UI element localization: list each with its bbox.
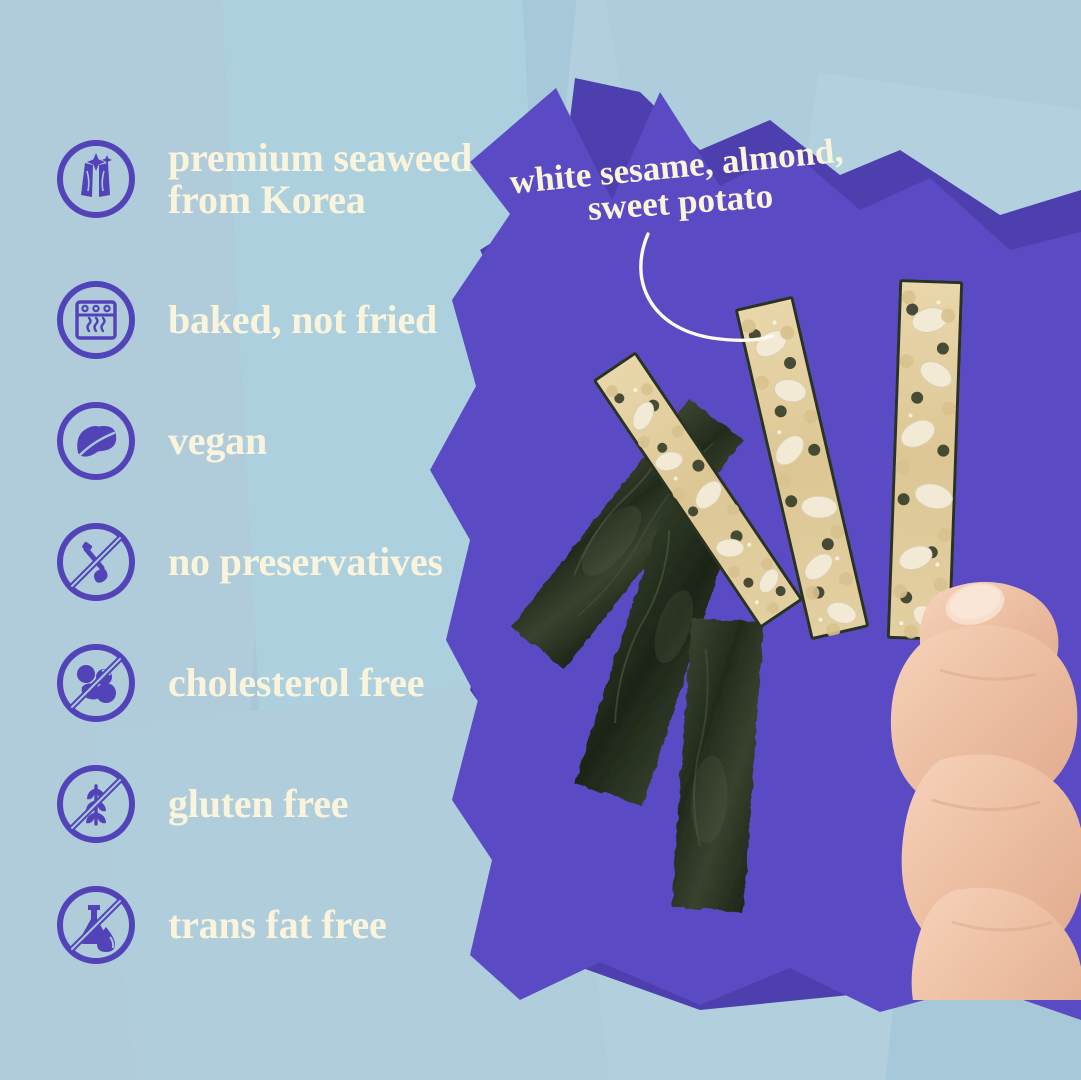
feature-item-baked-not-fried[interactable]: baked, not fried [52, 274, 437, 366]
feature-label: vegan [168, 420, 267, 462]
vegan-icon [52, 397, 140, 485]
feature-label: gluten free [168, 783, 348, 825]
feature-item-gluten-free[interactable]: gluten free [52, 758, 348, 850]
trans-fat-free-icon [52, 881, 140, 969]
feature-label: baked, not fried [168, 299, 437, 341]
gluten-free-icon [52, 760, 140, 848]
feature-label: cholesterol free [168, 662, 424, 704]
feature-item-trans-fat-free[interactable]: trans fat free [52, 879, 387, 971]
infographic-canvas: white sesame, almond, sweet potato premi… [0, 0, 1081, 1080]
feature-item-no-preservatives[interactable]: no preservatives [52, 516, 443, 608]
feature-item-premium-seaweed[interactable]: premium seaweed from Korea [52, 133, 472, 225]
premium-seaweed-icon [52, 135, 140, 223]
snack-stick [887, 279, 964, 641]
curved-leader-line [620, 228, 840, 368]
hand-holding-icon [891, 577, 1081, 1000]
feature-list: premium seaweed from Korea baked, not fr… [0, 0, 540, 1080]
baked-not-fried-icon [52, 276, 140, 364]
feature-label: premium seaweed from Korea [168, 137, 472, 222]
feature-item-vegan[interactable]: vegan [52, 395, 267, 487]
feature-label: no preservatives [168, 541, 443, 583]
feature-label: trans fat free [168, 904, 387, 946]
no-preservatives-icon [52, 518, 140, 606]
cholesterol-free-icon [52, 639, 140, 727]
feature-item-cholesterol-free[interactable]: cholesterol free [52, 637, 424, 729]
